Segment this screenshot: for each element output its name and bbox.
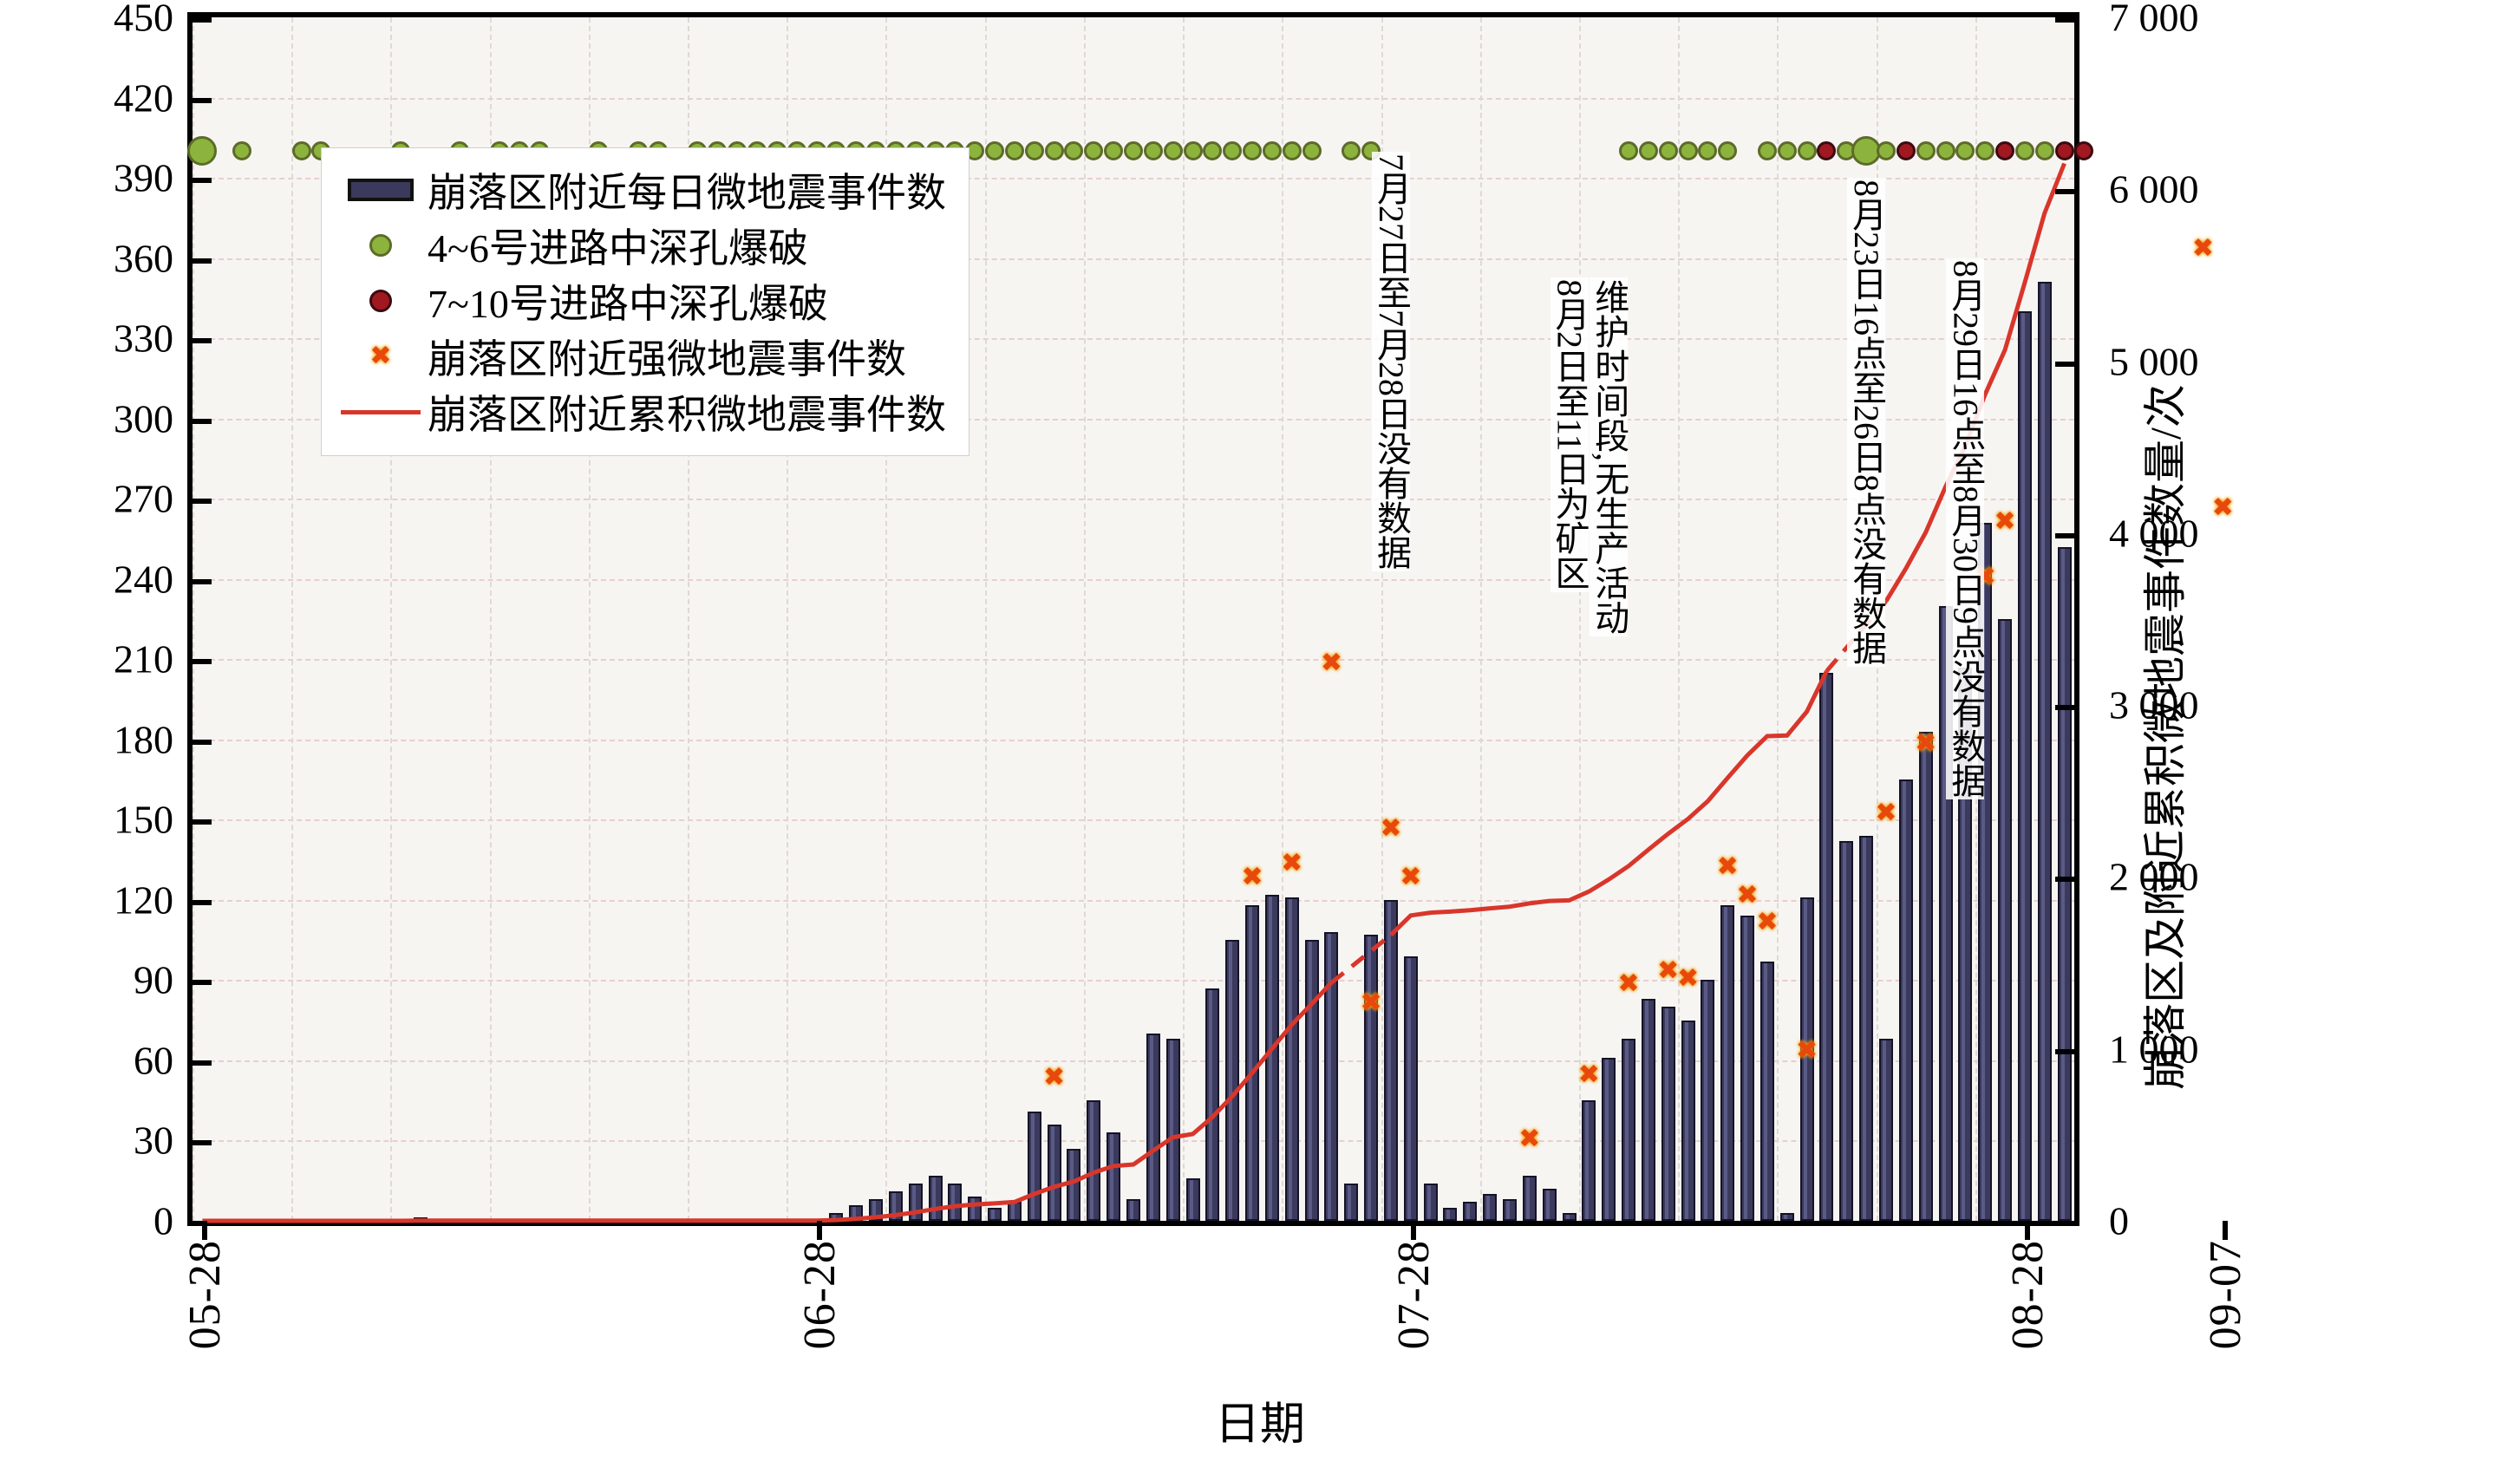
- y-tick-left: 60: [35, 1037, 173, 1083]
- y-tick-left: 90: [35, 957, 173, 1003]
- chart-root: 崩落区及附近每日微地震事件数量/次 崩落区及附近累积微地震事件数量/次 ✖✖✖✖…: [0, 0, 2520, 1474]
- y-tick-right: 3 000: [2109, 682, 2199, 728]
- y-tick-mark-left: [193, 338, 212, 343]
- y-tick-mark-right: [2055, 705, 2074, 710]
- y-tick-left: 240: [35, 556, 173, 602]
- y-tick-mark-left: [193, 98, 212, 103]
- y-tick-mark-left: [193, 1060, 212, 1066]
- legend-symbol-line: [339, 410, 422, 414]
- y-tick-right: 4 000: [2109, 510, 2199, 556]
- y-tick-mark-left: [193, 980, 212, 985]
- y-tick-mark-left: [193, 499, 212, 504]
- x-tick: 09-07: [2200, 1240, 2251, 1349]
- y-tick-left: 120: [35, 877, 173, 923]
- y-tick-left: 150: [35, 797, 173, 843]
- plot-area: ✖✖✖✖✖✖✖✖✖✖✖✖✖✖✖✖✖✖✖✖✖✖ 7月27日至7月28日没有数据8月…: [187, 12, 2079, 1226]
- y-tick-left: 0: [35, 1198, 173, 1244]
- y-tick-mark-left: [193, 258, 212, 264]
- red-dot-icon: [369, 290, 392, 312]
- strong-event-marker: ✖: [2211, 497, 2234, 519]
- y-tick-left: 390: [35, 155, 173, 201]
- x-tick-mark: [2025, 1221, 2030, 1240]
- plot-annotation: 7月27日至7月28日没有数据: [1372, 152, 1410, 571]
- y-tick-right: 5 000: [2109, 338, 2199, 384]
- y-axis-right-title: 崩落区及附近累积微地震事件数量/次: [2131, 384, 2193, 1090]
- x-tick: 07-28: [1388, 1240, 1440, 1349]
- legend-item[interactable]: 崩落区附近每日微地震事件数: [339, 162, 946, 218]
- legend-item[interactable]: 4~6号进路中深孔爆破: [339, 218, 946, 273]
- y-tick-left: 210: [35, 636, 173, 682]
- legend: 崩落区附近每日微地震事件数4~6号进路中深孔爆破7~10号进路中深孔爆破✖崩落区…: [321, 147, 969, 456]
- x-axis-title: 日期: [0, 1387, 2520, 1452]
- y-tick-mark-left: [193, 659, 212, 664]
- y-tick-mark-left: [193, 819, 212, 825]
- y-tick-mark-left: [193, 579, 212, 584]
- y-tick-mark-left: [193, 419, 212, 424]
- plot-annotation: 8月23日16点至26日8点没有数据: [1847, 178, 1885, 667]
- red-line-icon: [341, 410, 421, 414]
- legend-item[interactable]: 7~10号进路中深孔爆破: [339, 273, 946, 329]
- x-tick-mark: [817, 1221, 822, 1240]
- y-tick-mark-right: [2055, 1049, 2074, 1054]
- y-tick-mark-right: [2055, 189, 2074, 194]
- y-tick-mark-right: [2055, 533, 2074, 538]
- x-tick: 06-28: [794, 1240, 845, 1349]
- plot-annotation: 8月29日16点至8月30日9点没有数据: [1946, 258, 1984, 799]
- y-tick-mark-right: [2055, 877, 2074, 882]
- legend-item-label: 崩落区附近强微地震事件数: [422, 328, 906, 385]
- plot-annotation: 8月2日至11日为矿区: [1551, 277, 1589, 592]
- legend-symbol-bar: [339, 179, 422, 201]
- y-tick-mark-right: [2055, 362, 2074, 367]
- legend-item[interactable]: ✖崩落区附近强微地震事件数: [339, 329, 946, 384]
- y-tick-left: 180: [35, 716, 173, 762]
- legend-item[interactable]: 崩落区附近累积微地震事件数: [339, 384, 946, 440]
- x-tick-mark: [202, 1221, 207, 1240]
- legend-symbol-red-dot: [339, 290, 422, 312]
- y-tick-mark-left: [193, 740, 212, 745]
- legend-item-label: 崩落区附近每日微地震事件数: [422, 161, 946, 218]
- x-tick: 05-28: [180, 1240, 231, 1349]
- green-dot-icon: [369, 234, 392, 257]
- y-tick-mark-right: [2055, 17, 2074, 23]
- blast-marker-7-10: [2074, 141, 2093, 160]
- y-tick-left: 300: [35, 395, 173, 441]
- bar-swatch-icon: [348, 179, 414, 201]
- legend-item-label: 崩落区附近累积微地震事件数: [422, 383, 946, 440]
- x-tick-mark: [2223, 1221, 2228, 1240]
- legend-item-label: 7~10号进路中深孔爆破: [422, 272, 828, 329]
- x-tick: 08-28: [2002, 1240, 2053, 1349]
- y-tick-mark-left: [193, 178, 212, 183]
- y-tick-right: 1 000: [2109, 1026, 2199, 1072]
- legend-symbol-green-dot: [339, 234, 422, 257]
- y-tick-right: 7 000: [2109, 0, 2199, 41]
- y-tick-left: 30: [35, 1118, 173, 1164]
- y-tick-right: 6 000: [2109, 166, 2199, 212]
- strong-event-marker: ✖: [2191, 238, 2214, 260]
- y-tick-mark-left: [193, 900, 212, 905]
- legend-item-label: 4~6号进路中深孔爆破: [422, 217, 808, 274]
- y-tick-left: 450: [35, 0, 173, 41]
- y-tick-mark-left: [193, 1140, 212, 1145]
- y-tick-left: 360: [35, 235, 173, 281]
- x-tick-mark: [1411, 1221, 1416, 1240]
- plot-annotation: 维护时间段,无生产活动: [1590, 277, 1628, 636]
- legend-symbol-x: ✖: [339, 345, 422, 368]
- y-tick-right: 0: [2109, 1198, 2129, 1244]
- y-tick-right: 2 000: [2109, 854, 2199, 900]
- y-tick-left: 330: [35, 316, 173, 362]
- y-tick-left: 420: [35, 75, 173, 121]
- x-marker-icon: ✖: [369, 345, 392, 368]
- y-tick-mark-left: [193, 17, 212, 23]
- y-tick-left: 270: [35, 476, 173, 522]
